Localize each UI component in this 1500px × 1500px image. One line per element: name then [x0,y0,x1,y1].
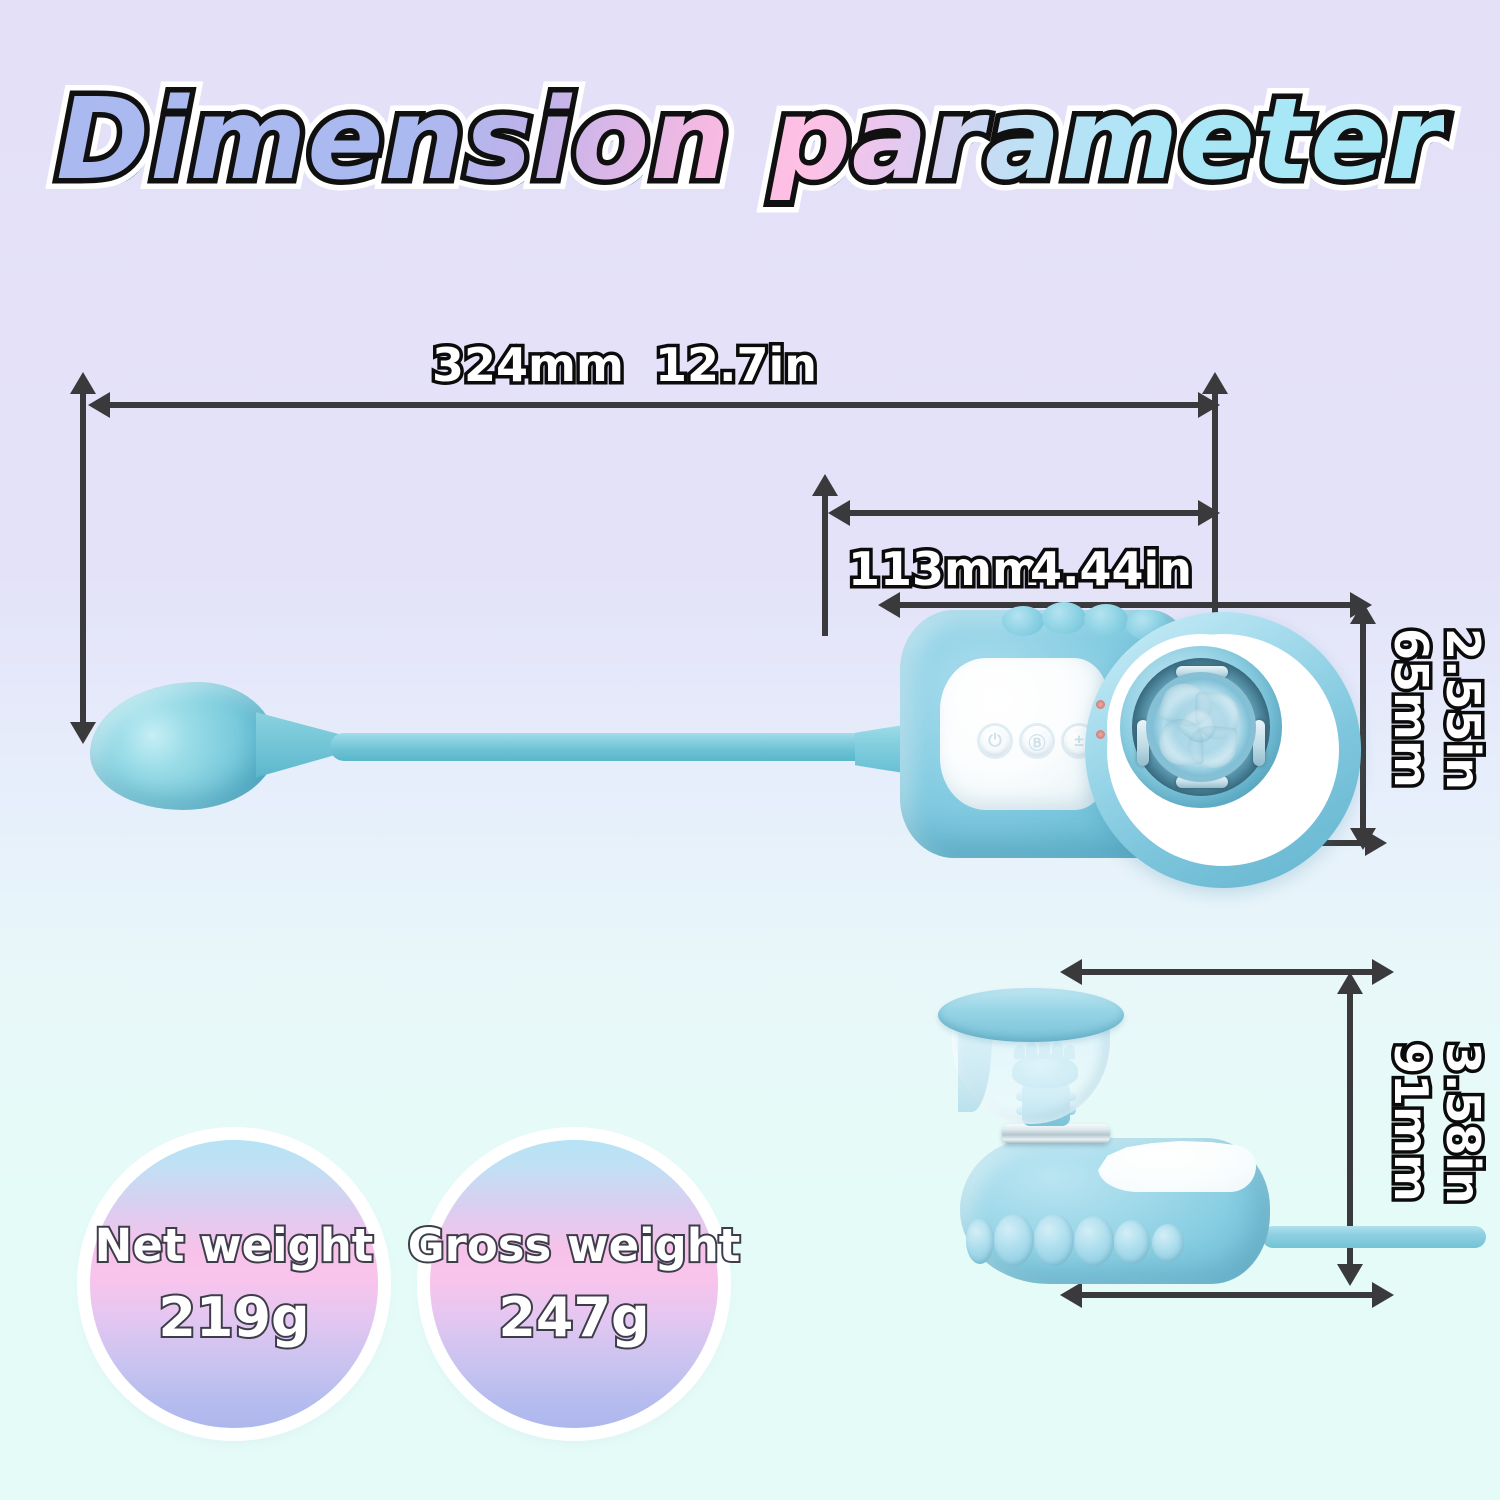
indicator-led-1 [1096,700,1105,709]
arrowhead-head-height-down [1350,828,1376,850]
product-rose-petals [1146,672,1256,782]
suction-unit-metal-ring [1002,1124,1110,1144]
dimension-label-head-height-metric: 65mm [1384,628,1438,788]
arrowhead-head-height-up [1350,602,1376,624]
suction-unit-bump-2 [994,1214,1034,1266]
arrowhead-total-length-left [88,392,110,418]
mode-icon: Ⓑ [1022,726,1052,756]
indicator-led-2 [1096,730,1105,739]
gross-weight-label: Gross weight [408,1219,741,1272]
product-cord [330,733,890,761]
product-body-ridge-3 [1084,604,1128,636]
arrowhead-head-length-top-right [1198,500,1220,526]
dimension-label-head-length-metric: 113mm [848,542,1040,596]
product-body-ridge-1 [1002,606,1044,636]
arrowhead-total-left-up [70,372,96,394]
suction-unit-bump-5 [1114,1220,1150,1264]
dimension-line-head-length-top [848,510,1206,516]
power-icon: ⏻ [980,726,1010,756]
mode-button-icon: Ⓑ [1022,726,1052,756]
net-weight-value: 219g [158,1286,309,1349]
gross-weight-badge: Gross weight 247g [430,1140,718,1428]
arrowhead-total-length-right [1198,392,1220,418]
suction-unit-bump-4 [1074,1216,1114,1266]
dimension-label-head-length-imperial: 4.44in [1030,542,1192,596]
net-weight-badge: Net weight 219g [90,1140,378,1428]
product-egg-head [90,682,276,810]
page-title: Dimension parameter Dimension parameter … [0,82,1500,232]
suction-unit-bump-6 [1152,1224,1184,1262]
product-illustration-wand: ⏻ Ⓑ ± [80,600,1330,900]
net-weight-label: Net weight [95,1219,374,1272]
dimension-label-total-length-imperial: 12.7in [655,338,817,392]
gross-weight-value: 247g [498,1286,649,1349]
dimension-label-head-height-imperial: 2.55in [1436,628,1490,790]
suction-unit-cord [1262,1226,1486,1248]
arrowhead-head-left-up [812,474,838,496]
suction-unit-bump-1 [966,1218,994,1264]
product-body-ridge-2 [1042,602,1086,634]
page-title-text: Dimension parameter [56,82,1443,200]
product-illustration-suction-unit [930,980,1490,1310]
dimension-line-total-length [108,402,1206,408]
suction-unit-bump-3 [1034,1214,1074,1266]
dimension-label-total-length-metric: 324mm [432,338,624,392]
page-title-outerglow: Dimension parameter [56,82,1443,200]
page-title-outline: Dimension parameter [56,82,1443,200]
extension-line-suction-top [1080,969,1380,975]
power-button-icon: ⏻ [980,726,1010,756]
suction-unit-cup-rim [938,988,1124,1042]
product-egg-neck [256,706,342,782]
product-control-panel: ⏻ Ⓑ ± [940,658,1108,810]
arrowhead-head-length-top-left [828,500,850,526]
arrowhead-total-right-up [1202,372,1228,394]
dimension-line-head-height [1360,622,1366,834]
page-title-shadow: Dimension parameter [63,91,1450,209]
infographic-canvas: Dimension parameter Dimension parameter … [0,0,1500,1500]
